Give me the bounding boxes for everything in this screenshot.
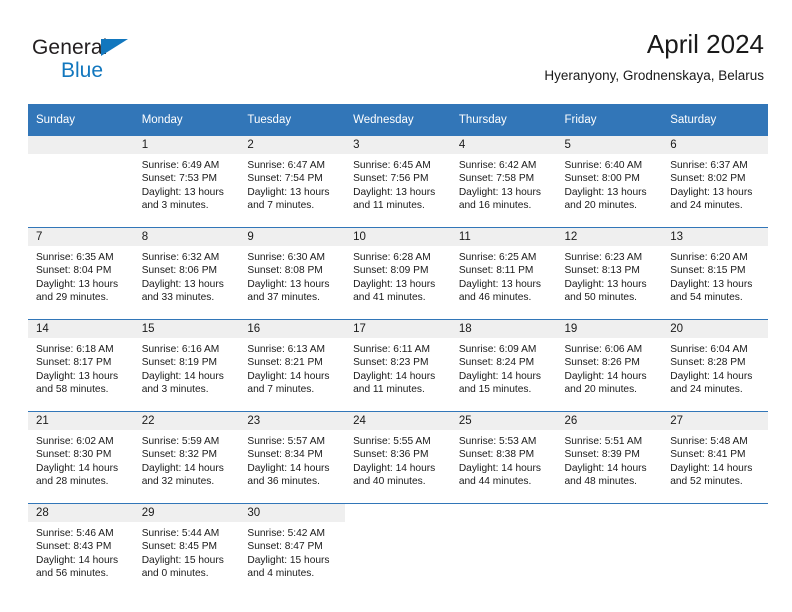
- day-details: Sunrise: 6:11 AMSunset: 8:23 PMDaylight:…: [345, 338, 451, 397]
- day-details: Sunrise: 5:59 AMSunset: 8:32 PMDaylight:…: [134, 430, 240, 489]
- day-detail-line: Daylight: 14 hours: [670, 462, 760, 475]
- day-number: 19: [557, 320, 663, 338]
- day-cell[interactable]: 18Sunrise: 6:09 AMSunset: 8:24 PMDayligh…: [451, 320, 557, 411]
- calendar-cell: 23Sunrise: 5:57 AMSunset: 8:34 PMDayligh…: [239, 412, 345, 504]
- day-detail-line: and 0 minutes.: [142, 567, 232, 580]
- day-number: [557, 504, 663, 522]
- day-number: 9: [239, 228, 345, 246]
- calendar-cell: 26Sunrise: 5:51 AMSunset: 8:39 PMDayligh…: [557, 412, 663, 504]
- day-detail-line: Daylight: 13 hours: [565, 186, 655, 199]
- day-detail-line: Sunrise: 6:04 AM: [670, 343, 760, 356]
- day-details: Sunrise: 6:45 AMSunset: 7:56 PMDaylight:…: [345, 154, 451, 213]
- day-cell[interactable]: 5Sunrise: 6:40 AMSunset: 8:00 PMDaylight…: [557, 136, 663, 227]
- weekday-header-friday: Friday: [557, 104, 663, 136]
- day-detail-line: and 7 minutes.: [247, 383, 337, 396]
- day-detail-line: Daylight: 13 hours: [142, 278, 232, 291]
- calendar-cell: 29Sunrise: 5:44 AMSunset: 8:45 PMDayligh…: [134, 504, 240, 596]
- calendar-cell: 17Sunrise: 6:11 AMSunset: 8:23 PMDayligh…: [345, 320, 451, 412]
- day-number: 10: [345, 228, 451, 246]
- day-detail-line: Sunset: 8:23 PM: [353, 356, 443, 369]
- day-cell[interactable]: 30Sunrise: 5:42 AMSunset: 8:47 PMDayligh…: [239, 504, 345, 595]
- day-cell-empty: [662, 504, 768, 595]
- day-cell[interactable]: 25Sunrise: 5:53 AMSunset: 8:38 PMDayligh…: [451, 412, 557, 503]
- day-detail-line: and 44 minutes.: [459, 475, 549, 488]
- day-detail-line: Sunrise: 6:13 AM: [247, 343, 337, 356]
- calendar-cell: 5Sunrise: 6:40 AMSunset: 8:00 PMDaylight…: [557, 136, 663, 228]
- calendar-cell: 19Sunrise: 6:06 AMSunset: 8:26 PMDayligh…: [557, 320, 663, 412]
- day-detail-line: Sunset: 7:58 PM: [459, 172, 549, 185]
- day-detail-line: Sunrise: 6:47 AM: [247, 159, 337, 172]
- day-detail-line: Sunrise: 5:51 AM: [565, 435, 655, 448]
- day-details: [662, 522, 768, 527]
- day-detail-line: Daylight: 14 hours: [247, 370, 337, 383]
- day-detail-line: Sunset: 8:34 PM: [247, 448, 337, 461]
- day-detail-line: and 58 minutes.: [36, 383, 126, 396]
- day-detail-line: Sunrise: 6:28 AM: [353, 251, 443, 264]
- day-number: 24: [345, 412, 451, 430]
- day-cell[interactable]: 14Sunrise: 6:18 AMSunset: 8:17 PMDayligh…: [28, 320, 134, 411]
- calendar-cell: 18Sunrise: 6:09 AMSunset: 8:24 PMDayligh…: [451, 320, 557, 412]
- day-cell[interactable]: 29Sunrise: 5:44 AMSunset: 8:45 PMDayligh…: [134, 504, 240, 595]
- weekday-header-sunday: Sunday: [28, 104, 134, 136]
- day-cell[interactable]: 21Sunrise: 6:02 AMSunset: 8:30 PMDayligh…: [28, 412, 134, 503]
- day-number: 4: [451, 136, 557, 154]
- day-details: Sunrise: 6:02 AMSunset: 8:30 PMDaylight:…: [28, 430, 134, 489]
- calendar-cell: 15Sunrise: 6:16 AMSunset: 8:19 PMDayligh…: [134, 320, 240, 412]
- day-detail-line: Daylight: 13 hours: [36, 370, 126, 383]
- day-detail-line: Sunset: 8:11 PM: [459, 264, 549, 277]
- day-detail-line: Sunset: 8:13 PM: [565, 264, 655, 277]
- day-detail-line: Sunset: 8:38 PM: [459, 448, 549, 461]
- day-detail-line: Daylight: 13 hours: [247, 186, 337, 199]
- day-detail-line: and 28 minutes.: [36, 475, 126, 488]
- day-details: Sunrise: 6:06 AMSunset: 8:26 PMDaylight:…: [557, 338, 663, 397]
- day-number: [451, 504, 557, 522]
- day-detail-line: Sunrise: 6:32 AM: [142, 251, 232, 264]
- logo-row-bottom: Blue: [32, 60, 182, 84]
- day-details: Sunrise: 6:16 AMSunset: 8:19 PMDaylight:…: [134, 338, 240, 397]
- day-details: [451, 522, 557, 527]
- day-details: Sunrise: 6:47 AMSunset: 7:54 PMDaylight:…: [239, 154, 345, 213]
- page-subtitle: Hyeranyony, Grodnenskaya, Belarus: [544, 66, 764, 86]
- day-details: Sunrise: 6:32 AMSunset: 8:06 PMDaylight:…: [134, 246, 240, 305]
- day-cell[interactable]: 15Sunrise: 6:16 AMSunset: 8:19 PMDayligh…: [134, 320, 240, 411]
- day-detail-line: Daylight: 13 hours: [36, 278, 126, 291]
- logo-text-general: General: [32, 36, 107, 59]
- day-detail-line: Sunset: 8:47 PM: [247, 540, 337, 553]
- logo-text-blue: Blue: [61, 59, 103, 82]
- day-detail-line: Sunrise: 6:49 AM: [142, 159, 232, 172]
- day-detail-line: and 33 minutes.: [142, 291, 232, 304]
- calendar-cell: [345, 504, 451, 596]
- day-cell[interactable]: 23Sunrise: 5:57 AMSunset: 8:34 PMDayligh…: [239, 412, 345, 503]
- day-number: 12: [557, 228, 663, 246]
- day-number: 28: [28, 504, 134, 522]
- day-details: Sunrise: 6:42 AMSunset: 7:58 PMDaylight:…: [451, 154, 557, 213]
- day-detail-line: Daylight: 14 hours: [353, 370, 443, 383]
- day-detail-line: Daylight: 14 hours: [670, 370, 760, 383]
- day-number: 13: [662, 228, 768, 246]
- day-detail-line: Daylight: 13 hours: [353, 186, 443, 199]
- calendar-cell: 22Sunrise: 5:59 AMSunset: 8:32 PMDayligh…: [134, 412, 240, 504]
- day-detail-line: Daylight: 13 hours: [670, 278, 760, 291]
- day-detail-line: Daylight: 14 hours: [459, 370, 549, 383]
- weekday-header-tuesday: Tuesday: [239, 104, 345, 136]
- day-detail-line: Daylight: 13 hours: [459, 186, 549, 199]
- day-number: 18: [451, 320, 557, 338]
- day-number: 23: [239, 412, 345, 430]
- day-number: 16: [239, 320, 345, 338]
- calendar-body: 1Sunrise: 6:49 AMSunset: 7:53 PMDaylight…: [28, 136, 768, 595]
- day-detail-line: Sunset: 8:15 PM: [670, 264, 760, 277]
- day-detail-line: Daylight: 14 hours: [565, 462, 655, 475]
- day-detail-line: and 11 minutes.: [353, 383, 443, 396]
- page-header: General Blue April 2024 Hyeranyony, Grod…: [28, 28, 764, 96]
- day-cell[interactable]: 7Sunrise: 6:35 AMSunset: 8:04 PMDaylight…: [28, 228, 134, 319]
- day-number: 7: [28, 228, 134, 246]
- day-detail-line: Daylight: 14 hours: [247, 462, 337, 475]
- day-detail-line: Sunrise: 5:53 AM: [459, 435, 549, 448]
- logo-triangle-icon: [101, 39, 128, 56]
- day-detail-line: Daylight: 14 hours: [36, 462, 126, 475]
- weekday-header-row: Sunday Monday Tuesday Wednesday Thursday…: [28, 104, 768, 136]
- day-detail-line: Daylight: 14 hours: [353, 462, 443, 475]
- calendar-cell: 16Sunrise: 6:13 AMSunset: 8:21 PMDayligh…: [239, 320, 345, 412]
- day-detail-line: Daylight: 15 hours: [142, 554, 232, 567]
- day-detail-line: and 20 minutes.: [565, 383, 655, 396]
- day-details: Sunrise: 5:46 AMSunset: 8:43 PMDaylight:…: [28, 522, 134, 581]
- day-details: Sunrise: 5:48 AMSunset: 8:41 PMDaylight:…: [662, 430, 768, 489]
- calendar-week-row: 14Sunrise: 6:18 AMSunset: 8:17 PMDayligh…: [28, 320, 768, 412]
- day-detail-line: Sunrise: 6:37 AM: [670, 159, 760, 172]
- day-detail-line: and 3 minutes.: [142, 199, 232, 212]
- day-cell[interactable]: 3Sunrise: 6:45 AMSunset: 7:56 PMDaylight…: [345, 136, 451, 227]
- day-cell[interactable]: 12Sunrise: 6:23 AMSunset: 8:13 PMDayligh…: [557, 228, 663, 319]
- day-detail-line: Sunrise: 5:55 AM: [353, 435, 443, 448]
- day-number: [345, 504, 451, 522]
- weekday-header-thursday: Thursday: [451, 104, 557, 136]
- calendar-cell: 21Sunrise: 6:02 AMSunset: 8:30 PMDayligh…: [28, 412, 134, 504]
- day-detail-line: Sunset: 8:41 PM: [670, 448, 760, 461]
- day-detail-line: Sunrise: 6:16 AM: [142, 343, 232, 356]
- day-detail-line: Sunset: 8:39 PM: [565, 448, 655, 461]
- day-detail-line: Sunrise: 6:11 AM: [353, 343, 443, 356]
- day-details: Sunrise: 6:18 AMSunset: 8:17 PMDaylight:…: [28, 338, 134, 397]
- day-cell[interactable]: 19Sunrise: 6:06 AMSunset: 8:26 PMDayligh…: [557, 320, 663, 411]
- day-cell-empty: [28, 136, 134, 227]
- day-detail-line: and 46 minutes.: [459, 291, 549, 304]
- calendar-container: Sunday Monday Tuesday Wednesday Thursday…: [28, 104, 768, 595]
- day-cell[interactable]: 11Sunrise: 6:25 AMSunset: 8:11 PMDayligh…: [451, 228, 557, 319]
- day-details: Sunrise: 6:25 AMSunset: 8:11 PMDaylight:…: [451, 246, 557, 305]
- day-details: [28, 154, 134, 159]
- day-detail-line: and 50 minutes.: [565, 291, 655, 304]
- day-detail-line: and 29 minutes.: [36, 291, 126, 304]
- day-number: 5: [557, 136, 663, 154]
- day-detail-line: Sunrise: 6:42 AM: [459, 159, 549, 172]
- day-detail-line: Daylight: 14 hours: [142, 462, 232, 475]
- calendar-cell: [451, 504, 557, 596]
- day-details: Sunrise: 5:57 AMSunset: 8:34 PMDaylight:…: [239, 430, 345, 489]
- day-number: 22: [134, 412, 240, 430]
- day-cell[interactable]: 28Sunrise: 5:46 AMSunset: 8:43 PMDayligh…: [28, 504, 134, 595]
- weekday-header-wednesday: Wednesday: [345, 104, 451, 136]
- day-detail-line: Sunrise: 6:25 AM: [459, 251, 549, 264]
- day-detail-line: Daylight: 13 hours: [247, 278, 337, 291]
- day-detail-line: Sunrise: 6:40 AM: [565, 159, 655, 172]
- day-detail-line: Daylight: 14 hours: [459, 462, 549, 475]
- day-cell[interactable]: 24Sunrise: 5:55 AMSunset: 8:36 PMDayligh…: [345, 412, 451, 503]
- day-detail-line: Daylight: 13 hours: [670, 186, 760, 199]
- calendar-cell: 9Sunrise: 6:30 AMSunset: 8:08 PMDaylight…: [239, 228, 345, 320]
- day-number: 29: [134, 504, 240, 522]
- calendar-cell: 11Sunrise: 6:25 AMSunset: 8:11 PMDayligh…: [451, 228, 557, 320]
- day-detail-line: and 52 minutes.: [670, 475, 760, 488]
- calendar-cell: 27Sunrise: 5:48 AMSunset: 8:41 PMDayligh…: [662, 412, 768, 504]
- day-number: 21: [28, 412, 134, 430]
- day-cell[interactable]: 6Sunrise: 6:37 AMSunset: 8:02 PMDaylight…: [662, 136, 768, 227]
- day-details: Sunrise: 6:23 AMSunset: 8:13 PMDaylight:…: [557, 246, 663, 305]
- day-detail-line: Sunset: 8:00 PM: [565, 172, 655, 185]
- day-cell[interactable]: 13Sunrise: 6:20 AMSunset: 8:15 PMDayligh…: [662, 228, 768, 319]
- day-details: Sunrise: 6:35 AMSunset: 8:04 PMDaylight:…: [28, 246, 134, 305]
- day-detail-line: Sunset: 8:45 PM: [142, 540, 232, 553]
- day-detail-line: and 24 minutes.: [670, 199, 760, 212]
- day-detail-line: and 54 minutes.: [670, 291, 760, 304]
- general-blue-logo[interactable]: General Blue: [32, 36, 182, 88]
- day-detail-line: Sunrise: 6:30 AM: [247, 251, 337, 264]
- calendar-cell: 3Sunrise: 6:45 AMSunset: 7:56 PMDaylight…: [345, 136, 451, 228]
- calendar-cell: 14Sunrise: 6:18 AMSunset: 8:17 PMDayligh…: [28, 320, 134, 412]
- day-cell[interactable]: 10Sunrise: 6:28 AMSunset: 8:09 PMDayligh…: [345, 228, 451, 319]
- day-details: Sunrise: 6:04 AMSunset: 8:28 PMDaylight:…: [662, 338, 768, 397]
- day-detail-line: Daylight: 14 hours: [142, 370, 232, 383]
- calendar-cell: 28Sunrise: 5:46 AMSunset: 8:43 PMDayligh…: [28, 504, 134, 596]
- day-cell[interactable]: 4Sunrise: 6:42 AMSunset: 7:58 PMDaylight…: [451, 136, 557, 227]
- day-number: 14: [28, 320, 134, 338]
- day-detail-line: and 36 minutes.: [247, 475, 337, 488]
- day-detail-line: and 24 minutes.: [670, 383, 760, 396]
- title-block: April 2024 Hyeranyony, Grodnenskaya, Bel…: [544, 28, 764, 86]
- day-detail-line: Sunset: 8:24 PM: [459, 356, 549, 369]
- day-cell-empty: [451, 504, 557, 595]
- calendar-cell: 2Sunrise: 6:47 AMSunset: 7:54 PMDaylight…: [239, 136, 345, 228]
- day-number: 2: [239, 136, 345, 154]
- day-cell[interactable]: 20Sunrise: 6:04 AMSunset: 8:28 PMDayligh…: [662, 320, 768, 411]
- calendar-cell: 4Sunrise: 6:42 AMSunset: 7:58 PMDaylight…: [451, 136, 557, 228]
- calendar-header-row: Sunday Monday Tuesday Wednesday Thursday…: [28, 104, 768, 136]
- day-details: Sunrise: 6:49 AMSunset: 7:53 PMDaylight:…: [134, 154, 240, 213]
- day-detail-line: Sunrise: 6:20 AM: [670, 251, 760, 264]
- day-number: 20: [662, 320, 768, 338]
- calendar-cell: [28, 136, 134, 228]
- day-detail-line: Sunrise: 6:06 AM: [565, 343, 655, 356]
- day-cell[interactable]: 8Sunrise: 6:32 AMSunset: 8:06 PMDaylight…: [134, 228, 240, 319]
- day-details: Sunrise: 5:55 AMSunset: 8:36 PMDaylight:…: [345, 430, 451, 489]
- day-detail-line: Sunrise: 5:57 AM: [247, 435, 337, 448]
- day-number: 3: [345, 136, 451, 154]
- day-cell-empty: [557, 504, 663, 595]
- day-detail-line: and 7 minutes.: [247, 199, 337, 212]
- calendar-cell: 20Sunrise: 6:04 AMSunset: 8:28 PMDayligh…: [662, 320, 768, 412]
- day-number: 6: [662, 136, 768, 154]
- day-cell[interactable]: 22Sunrise: 5:59 AMSunset: 8:32 PMDayligh…: [134, 412, 240, 503]
- day-details: Sunrise: 6:37 AMSunset: 8:02 PMDaylight:…: [662, 154, 768, 213]
- day-detail-line: Sunset: 8:36 PM: [353, 448, 443, 461]
- day-details: Sunrise: 6:40 AMSunset: 8:00 PMDaylight:…: [557, 154, 663, 213]
- day-detail-line: Sunset: 8:21 PM: [247, 356, 337, 369]
- day-number: 25: [451, 412, 557, 430]
- day-detail-line: and 37 minutes.: [247, 291, 337, 304]
- day-details: Sunrise: 5:42 AMSunset: 8:47 PMDaylight:…: [239, 522, 345, 581]
- day-number: 26: [557, 412, 663, 430]
- day-details: Sunrise: 6:28 AMSunset: 8:09 PMDaylight:…: [345, 246, 451, 305]
- day-details: Sunrise: 6:30 AMSunset: 8:08 PMDaylight:…: [239, 246, 345, 305]
- day-detail-line: Sunset: 8:28 PM: [670, 356, 760, 369]
- day-cell[interactable]: 9Sunrise: 6:30 AMSunset: 8:08 PMDaylight…: [239, 228, 345, 319]
- day-number: 11: [451, 228, 557, 246]
- day-details: [557, 522, 663, 527]
- calendar-cell: 24Sunrise: 5:55 AMSunset: 8:36 PMDayligh…: [345, 412, 451, 504]
- day-detail-line: and 15 minutes.: [459, 383, 549, 396]
- day-details: Sunrise: 6:20 AMSunset: 8:15 PMDaylight:…: [662, 246, 768, 305]
- day-detail-line: Sunset: 8:08 PM: [247, 264, 337, 277]
- day-detail-line: Sunrise: 5:42 AM: [247, 527, 337, 540]
- day-number: 17: [345, 320, 451, 338]
- day-details: [345, 522, 451, 527]
- calendar-week-row: 21Sunrise: 6:02 AMSunset: 8:30 PMDayligh…: [28, 412, 768, 504]
- day-detail-line: and 41 minutes.: [353, 291, 443, 304]
- day-detail-line: Sunset: 8:04 PM: [36, 264, 126, 277]
- day-detail-line: Sunrise: 6:09 AM: [459, 343, 549, 356]
- calendar-cell: 1Sunrise: 6:49 AMSunset: 7:53 PMDaylight…: [134, 136, 240, 228]
- day-detail-line: Sunrise: 5:59 AM: [142, 435, 232, 448]
- day-detail-line: Daylight: 15 hours: [247, 554, 337, 567]
- calendar-week-row: 7Sunrise: 6:35 AMSunset: 8:04 PMDaylight…: [28, 228, 768, 320]
- day-detail-line: Sunset: 8:32 PM: [142, 448, 232, 461]
- day-detail-line: Daylight: 13 hours: [565, 278, 655, 291]
- calendar-cell: [662, 504, 768, 596]
- day-cell[interactable]: 2Sunrise: 6:47 AMSunset: 7:54 PMDaylight…: [239, 136, 345, 227]
- day-cell[interactable]: 26Sunrise: 5:51 AMSunset: 8:39 PMDayligh…: [557, 412, 663, 503]
- day-detail-line: and 4 minutes.: [247, 567, 337, 580]
- calendar-cell: 8Sunrise: 6:32 AMSunset: 8:06 PMDaylight…: [134, 228, 240, 320]
- day-detail-line: Sunset: 8:02 PM: [670, 172, 760, 185]
- day-detail-line: Sunset: 7:56 PM: [353, 172, 443, 185]
- day-detail-line: and 11 minutes.: [353, 199, 443, 212]
- day-detail-line: Sunrise: 5:46 AM: [36, 527, 126, 540]
- day-detail-line: and 48 minutes.: [565, 475, 655, 488]
- day-cell[interactable]: 16Sunrise: 6:13 AMSunset: 8:21 PMDayligh…: [239, 320, 345, 411]
- day-detail-line: Sunset: 8:43 PM: [36, 540, 126, 553]
- calendar-cell: 6Sunrise: 6:37 AMSunset: 8:02 PMDaylight…: [662, 136, 768, 228]
- day-detail-line: and 32 minutes.: [142, 475, 232, 488]
- day-detail-line: Sunrise: 5:44 AM: [142, 527, 232, 540]
- calendar-cell: 13Sunrise: 6:20 AMSunset: 8:15 PMDayligh…: [662, 228, 768, 320]
- day-detail-line: Sunset: 8:09 PM: [353, 264, 443, 277]
- calendar-cell: 10Sunrise: 6:28 AMSunset: 8:09 PMDayligh…: [345, 228, 451, 320]
- day-detail-line: Sunset: 8:19 PM: [142, 356, 232, 369]
- page-title: April 2024: [544, 28, 764, 60]
- day-details: Sunrise: 6:09 AMSunset: 8:24 PMDaylight:…: [451, 338, 557, 397]
- day-number: 1: [134, 136, 240, 154]
- day-number: 8: [134, 228, 240, 246]
- day-cell[interactable]: 27Sunrise: 5:48 AMSunset: 8:41 PMDayligh…: [662, 412, 768, 503]
- day-detail-line: Sunrise: 6:35 AM: [36, 251, 126, 264]
- day-detail-line: Daylight: 13 hours: [459, 278, 549, 291]
- calendar-page: General Blue April 2024 Hyeranyony, Grod…: [0, 0, 792, 612]
- day-detail-line: Sunset: 7:53 PM: [142, 172, 232, 185]
- day-detail-line: Daylight: 13 hours: [353, 278, 443, 291]
- calendar-cell: 25Sunrise: 5:53 AMSunset: 8:38 PMDayligh…: [451, 412, 557, 504]
- weekday-header-monday: Monday: [134, 104, 240, 136]
- day-detail-line: and 3 minutes.: [142, 383, 232, 396]
- day-detail-line: Sunset: 8:30 PM: [36, 448, 126, 461]
- day-detail-line: Sunrise: 6:02 AM: [36, 435, 126, 448]
- logo-row-top: General: [32, 36, 182, 60]
- day-detail-line: Sunset: 8:17 PM: [36, 356, 126, 369]
- calendar-cell: 30Sunrise: 5:42 AMSunset: 8:47 PMDayligh…: [239, 504, 345, 596]
- day-number: 30: [239, 504, 345, 522]
- day-cell[interactable]: 17Sunrise: 6:11 AMSunset: 8:23 PMDayligh…: [345, 320, 451, 411]
- day-number: 27: [662, 412, 768, 430]
- calendar-week-row: 28Sunrise: 5:46 AMSunset: 8:43 PMDayligh…: [28, 504, 768, 596]
- day-detail-line: Sunset: 7:54 PM: [247, 172, 337, 185]
- day-details: Sunrise: 5:51 AMSunset: 8:39 PMDaylight:…: [557, 430, 663, 489]
- day-details: Sunrise: 5:44 AMSunset: 8:45 PMDaylight:…: [134, 522, 240, 581]
- day-detail-line: Sunrise: 6:18 AM: [36, 343, 126, 356]
- day-number: [662, 504, 768, 522]
- day-detail-line: Daylight: 13 hours: [142, 186, 232, 199]
- day-detail-line: Sunset: 8:26 PM: [565, 356, 655, 369]
- day-detail-line: Daylight: 14 hours: [36, 554, 126, 567]
- calendar-table: Sunday Monday Tuesday Wednesday Thursday…: [28, 104, 768, 595]
- calendar-week-row: 1Sunrise: 6:49 AMSunset: 7:53 PMDaylight…: [28, 136, 768, 228]
- day-detail-line: and 20 minutes.: [565, 199, 655, 212]
- weekday-header-saturday: Saturday: [662, 104, 768, 136]
- day-detail-line: Daylight: 14 hours: [565, 370, 655, 383]
- day-detail-line: Sunrise: 6:45 AM: [353, 159, 443, 172]
- calendar-cell: 12Sunrise: 6:23 AMSunset: 8:13 PMDayligh…: [557, 228, 663, 320]
- day-detail-line: Sunrise: 6:23 AM: [565, 251, 655, 264]
- day-detail-line: and 56 minutes.: [36, 567, 126, 580]
- day-number: 15: [134, 320, 240, 338]
- day-details: Sunrise: 6:13 AMSunset: 8:21 PMDaylight:…: [239, 338, 345, 397]
- day-detail-line: and 16 minutes.: [459, 199, 549, 212]
- day-detail-line: Sunset: 8:06 PM: [142, 264, 232, 277]
- day-number: [28, 136, 134, 154]
- day-details: Sunrise: 5:53 AMSunset: 8:38 PMDaylight:…: [451, 430, 557, 489]
- day-detail-line: Sunrise: 5:48 AM: [670, 435, 760, 448]
- calendar-cell: [557, 504, 663, 596]
- day-cell[interactable]: 1Sunrise: 6:49 AMSunset: 7:53 PMDaylight…: [134, 136, 240, 227]
- calendar-cell: 7Sunrise: 6:35 AMSunset: 8:04 PMDaylight…: [28, 228, 134, 320]
- day-cell-empty: [345, 504, 451, 595]
- day-detail-line: and 40 minutes.: [353, 475, 443, 488]
